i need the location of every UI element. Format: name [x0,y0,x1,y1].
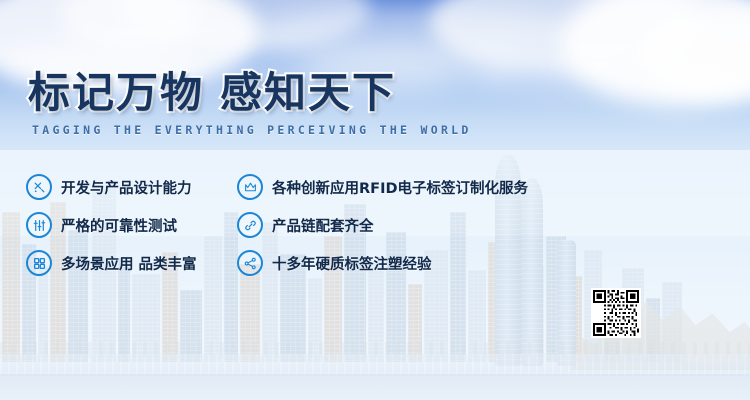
link-icon [237,212,263,238]
feature-item: 开发与产品设计能力 [26,168,231,206]
qr-code-image [593,290,639,336]
headline-part2: 感知天下 [220,68,396,117]
waterfront [0,374,750,400]
feature-label: 开发与产品设计能力 [61,177,192,198]
share-nodes-icon [237,250,263,276]
subtitle: TAGGING THE EVERYTHING PERCEIVING THE WO… [32,123,472,137]
feature-label: 产品链配套齐全 [272,215,374,236]
feature-item: 产品链配套齐全 [237,206,626,244]
feature-item: 多场景应用 品类丰富 [26,244,231,282]
tools-icon [26,174,52,200]
feature-label: 各种创新应用RFID电子标签订制化服务 [272,177,528,198]
feature-list: 开发与产品设计能力 各种创新应用RFID电子标签订制化服务 严格的可靠性测试 [26,168,626,282]
page-title: 标记万物感知天下 [28,72,472,114]
feature-item: 各种创新应用RFID电子标签订制化服务 [237,168,626,206]
headline-block: 标记万物感知天下 TAGGING THE EVERYTHING PERCEIVI… [28,72,472,137]
grid-icon [26,250,52,276]
promo-banner: 标记万物感知天下 TAGGING THE EVERYTHING PERCEIVI… [0,0,750,400]
feature-item: 十多年硬质标签注塑经验 [237,244,626,282]
feature-item: 严格的可靠性测试 [26,206,231,244]
feature-label: 多场景应用 品类丰富 [61,253,197,274]
feature-label: 十多年硬质标签注塑经验 [272,253,432,274]
promenade [0,354,750,376]
crown-icon [237,174,263,200]
sliders-icon [26,212,52,238]
feature-label: 严格的可靠性测试 [61,215,177,236]
qr-code[interactable] [591,288,641,338]
headline-part1: 标记万物 [28,68,204,117]
